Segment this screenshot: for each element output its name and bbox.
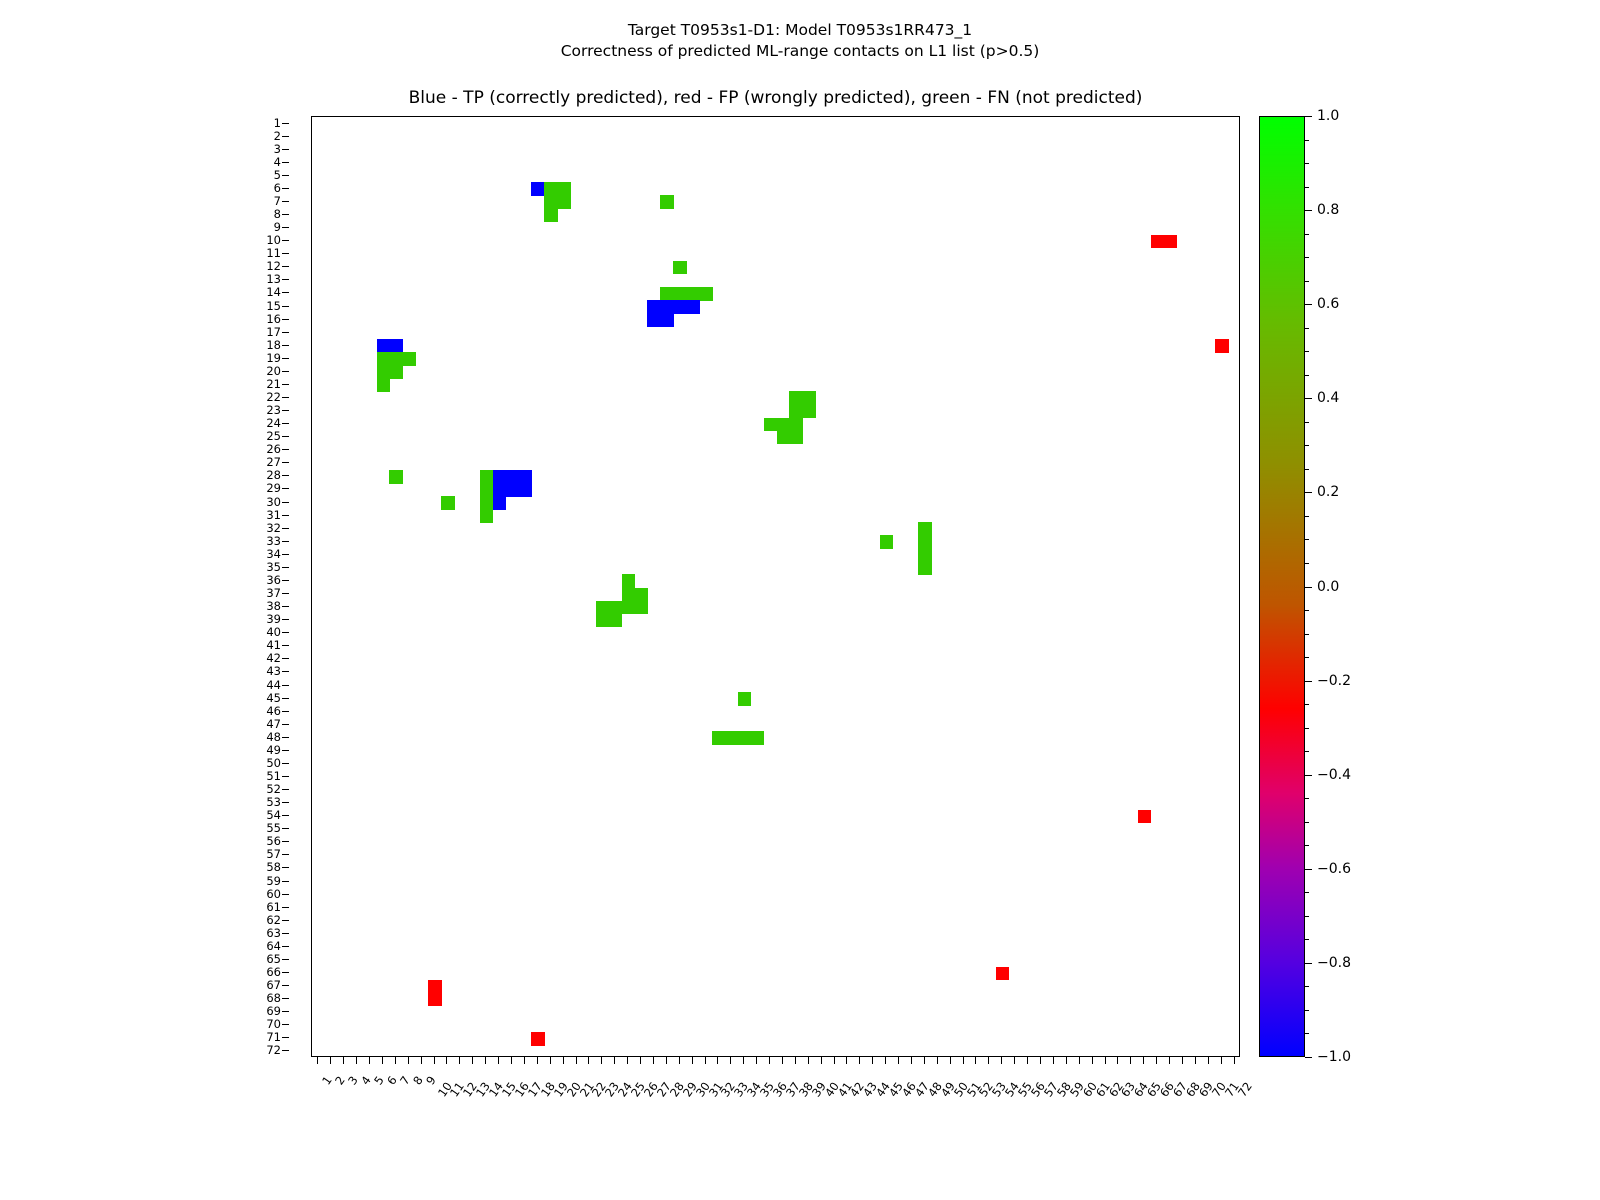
colorbar[interactable]: 1.00.80.60.40.20.0−0.2−0.4−0.6−0.8−1.0 [1259,116,1305,1057]
colorbar-tick-mark [1305,1057,1312,1058]
colorbar-minor-tick [1305,845,1309,846]
figure-suptitle: Target T0953s1-D1: Model T0953s1RR473_1 … [0,20,1600,62]
x-tick-mark [343,1057,344,1064]
x-tick-mark [1092,1057,1093,1064]
contact-cell-fn [377,365,391,379]
y-tick-mark [282,632,289,633]
y-tick-label: 68 [266,992,281,1004]
x-tick-mark [1079,1057,1080,1064]
x-tick-mark [472,1057,473,1064]
x-tick-mark [317,1057,318,1064]
y-tick-label: 8 [274,208,281,220]
x-tick-mark [834,1057,835,1064]
contact-cell-tp [377,339,391,353]
x-tick-mark [717,1057,718,1064]
contact-cell-fn [712,731,726,745]
x-tick-mark [679,1057,680,1064]
contact-cell-fn [377,352,391,366]
contact-cell-tp [389,339,403,353]
y-tick-label: 69 [266,1005,281,1017]
contact-cell-tp [493,496,507,510]
contact-cell-fn [480,509,494,523]
x-tick-mark [898,1057,899,1064]
colorbar-minor-tick [1305,539,1309,540]
y-tick-mark [282,201,289,202]
contact-cell-fn [789,431,803,445]
y-tick-label: 13 [266,273,281,285]
x-tick-mark [1234,1057,1235,1064]
y-tick-mark [282,528,289,529]
contact-cell-fn [389,352,403,366]
y-tick-mark [282,227,289,228]
y-tick-mark [282,266,289,267]
contact-cell-fp [428,993,442,1007]
x-tick-mark [588,1057,589,1064]
y-tick-mark [282,841,289,842]
x-tick-mark [1066,1057,1067,1064]
y-tick-label: 16 [266,313,281,325]
x-tick-mark [808,1057,809,1064]
y-tick-mark [282,384,289,385]
x-tick-mark [859,1057,860,1064]
x-tick-mark [692,1057,693,1064]
colorbar-minor-tick [1305,798,1309,799]
contact-cell-fn [557,182,571,196]
y-tick-label: 45 [266,692,281,704]
x-tick-mark [937,1057,938,1064]
y-tick-label: 4 [274,156,281,168]
y-tick-mark [282,423,289,424]
y-tick-label: 17 [266,326,281,338]
y-tick-mark [282,371,289,372]
y-tick-label: 11 [266,247,281,259]
colorbar-minor-tick [1305,916,1309,917]
x-tick-mark [395,1057,396,1064]
y-tick-label: 1 [274,117,281,129]
contact-cell-fp [1215,339,1229,353]
colorbar-minor-tick [1305,634,1309,635]
y-tick-mark [282,580,289,581]
colorbar-tick-mark [1305,775,1312,776]
y-tick-mark [282,1050,289,1051]
x-tick-mark [550,1057,551,1064]
y-tick-label: 31 [266,509,281,521]
colorbar-minor-tick [1305,751,1309,752]
y-axis: 1234567891011121314151617181920212223242… [0,116,311,1057]
y-tick-mark [282,933,289,934]
y-tick-mark [282,567,289,568]
contact-cell-fn [918,561,932,575]
colorbar-minor-tick [1305,445,1309,446]
contact-cell-fn [789,418,803,432]
x-tick-mark [795,1057,796,1064]
y-tick-label: 71 [266,1031,281,1043]
x-tick-mark [950,1057,951,1064]
y-tick-mark [282,410,289,411]
y-tick-mark [282,737,289,738]
y-tick-label: 40 [266,626,281,638]
y-tick-label: 12 [266,260,281,272]
y-tick-label: 58 [266,861,281,873]
contact-cell-fn [389,470,403,484]
y-tick-mark [282,319,289,320]
colorbar-tick-label: −0.2 [1317,674,1351,688]
contact-cell-fn [918,548,932,562]
y-tick-label: 27 [266,456,281,468]
y-tick-label: 30 [266,496,281,508]
y-tick-mark [282,815,289,816]
y-tick-label: 42 [266,652,281,664]
y-tick-label: 64 [266,940,281,952]
colorbar-tick-label: −0.4 [1317,768,1351,782]
colorbar-minor-tick [1305,163,1309,164]
contact-cell-fn [557,195,571,209]
x-tick-mark [1001,1057,1002,1064]
contact-cell-fn [880,535,894,549]
x-tick-mark [1053,1057,1054,1064]
colorbar-tick-label: 1.0 [1317,109,1339,123]
colorbar-tick-label: 0.8 [1317,203,1339,217]
x-tick-mark [576,1057,577,1064]
x-tick-mark [408,1057,409,1064]
contact-cell-tp [506,470,520,484]
y-tick-mark [282,867,289,868]
y-tick-label: 22 [266,391,281,403]
y-tick-mark [282,946,289,947]
colorbar-tick-label: 0.4 [1317,391,1339,405]
contact-cell-fn [660,195,674,209]
y-tick-label: 9 [274,221,281,233]
x-tick-mark [1014,1057,1015,1064]
y-tick-label: 2 [274,130,281,142]
x-tick-mark [537,1057,538,1064]
contact-cell-tp [506,483,520,497]
y-tick-mark [282,854,289,855]
colorbar-tick-label: 0.0 [1317,580,1339,594]
x-tick-mark [821,1057,822,1064]
y-tick-mark [282,279,289,280]
colorbar-minor-tick [1305,704,1309,705]
y-tick-mark [282,358,289,359]
y-tick-mark [282,881,289,882]
contact-cell-tp [647,300,661,314]
y-tick-mark [282,502,289,503]
y-tick-mark [282,436,289,437]
x-tick-mark [369,1057,370,1064]
y-tick-mark [282,920,289,921]
colorbar-tick-mark [1305,398,1312,399]
colorbar-minor-tick [1305,822,1309,823]
contact-cell-fn [622,601,636,615]
y-tick-label: 70 [266,1018,281,1030]
y-tick-label: 24 [266,417,281,429]
contact-cell-fn [802,405,816,419]
x-tick-mark [524,1057,525,1064]
x-tick-mark [330,1057,331,1064]
y-tick-mark [282,175,289,176]
contact-cell-fn [622,588,636,602]
contact-cell-fp [996,967,1010,981]
y-tick-mark [282,698,289,699]
y-tick-label: 59 [266,875,281,887]
y-tick-mark [282,619,289,620]
contact-cell-fn [764,418,778,432]
contact-cell-tp [686,300,700,314]
x-tick-mark [743,1057,744,1064]
y-tick-label: 33 [266,535,281,547]
y-tick-mark [282,462,289,463]
colorbar-minor-tick [1305,1010,1309,1011]
colorbar-tick-mark [1305,587,1312,588]
contact-cell-fn [544,208,558,222]
y-tick-label: 67 [266,979,281,991]
y-tick-mark [282,763,289,764]
y-tick-label: 28 [266,469,281,481]
x-tick-mark [1143,1057,1144,1064]
x-tick-mark [963,1057,964,1064]
y-tick-mark [282,449,289,450]
y-tick-label: 72 [266,1044,281,1056]
x-tick-mark [1105,1057,1106,1064]
y-tick-label: 37 [266,587,281,599]
contact-cell-tp [518,483,532,497]
x-axis: 1234567891011121314151617181920212223242… [311,1057,1240,1187]
y-tick-mark [282,789,289,790]
colorbar-tick-label: 0.6 [1317,297,1339,311]
y-tick-mark [282,332,289,333]
contact-cell-fp [1151,235,1165,249]
contact-cell-fn [544,195,558,209]
contact-cell-fp [1138,810,1152,824]
y-tick-label: 41 [266,639,281,651]
colorbar-minor-tick [1305,140,1309,141]
x-tick-mark [653,1057,654,1064]
x-tick-mark [563,1057,564,1064]
contact-cell-fn [686,287,700,301]
contact-map-cells [312,117,1239,1056]
y-tick-mark [282,188,289,189]
y-tick-mark [282,292,289,293]
colorbar-minor-tick [1305,939,1309,940]
x-tick-label: 9 [428,1068,442,1081]
contact-cell-fn [596,614,610,628]
y-tick-mark [282,136,289,137]
x-tick-mark [1195,1057,1196,1064]
x-tick-mark [627,1057,628,1064]
colorbar-minor-tick [1305,469,1309,470]
y-tick-label: 10 [266,234,281,246]
y-tick-mark [282,671,289,672]
y-tick-label: 38 [266,600,281,612]
contact-cell-fn [377,378,391,392]
colorbar-tick-label: −0.6 [1317,862,1351,876]
contact-cell-fn [441,496,455,510]
colorbar-minor-tick [1305,281,1309,282]
y-tick-mark [282,972,289,973]
x-tick-mark [1169,1057,1170,1064]
y-tick-label: 19 [266,352,281,364]
colorbar-minor-tick [1305,422,1309,423]
colorbar-tick-label: 0.2 [1317,485,1339,499]
contact-cell-fn [544,182,558,196]
y-tick-mark [282,397,289,398]
colorbar-minor-tick [1305,375,1309,376]
y-tick-mark [282,475,289,476]
contact-cell-tp [660,313,674,327]
x-tick-mark [911,1057,912,1064]
contact-map-plot-area[interactable] [311,116,1240,1057]
contact-cell-fn [802,391,816,405]
y-tick-label: 47 [266,718,281,730]
y-tick-mark [282,645,289,646]
y-tick-mark [282,724,289,725]
x-tick-mark [885,1057,886,1064]
y-tick-label: 3 [274,143,281,155]
colorbar-tick-mark [1305,304,1312,305]
y-tick-mark [282,214,289,215]
y-tick-label: 57 [266,848,281,860]
y-tick-mark [282,554,289,555]
x-tick-mark [1208,1057,1209,1064]
y-tick-label: 63 [266,927,281,939]
x-tick-mark [1182,1057,1183,1064]
contact-cell-fn [789,391,803,405]
colorbar-tick-mark [1305,869,1312,870]
contact-cell-fn [389,365,403,379]
y-tick-mark [282,1037,289,1038]
colorbar-minor-tick [1305,610,1309,611]
colorbar-minor-tick [1305,1033,1309,1034]
y-tick-label: 54 [266,809,281,821]
y-tick-label: 32 [266,522,281,534]
x-tick-mark [446,1057,447,1064]
x-tick-mark [1040,1057,1041,1064]
y-tick-mark [282,658,289,659]
x-tick-mark [705,1057,706,1064]
colorbar-minor-tick [1305,892,1309,893]
y-tick-mark [282,894,289,895]
contact-cell-fn [738,692,752,706]
x-tick-mark [1130,1057,1131,1064]
y-tick-label: 36 [266,574,281,586]
x-tick-mark [1027,1057,1028,1064]
y-tick-mark [282,253,289,254]
x-tick-mark [769,1057,770,1064]
y-tick-label: 26 [266,443,281,455]
y-tick-label: 18 [266,339,281,351]
y-tick-mark [282,306,289,307]
x-tick-mark [924,1057,925,1064]
contact-cell-tp [518,470,532,484]
contact-cell-fn [609,614,623,628]
contact-cell-fn [635,588,649,602]
x-tick-mark [459,1057,460,1064]
y-tick-label: 66 [266,966,281,978]
y-tick-mark [282,162,289,163]
y-tick-label: 35 [266,561,281,573]
y-tick-mark [282,593,289,594]
contact-cell-fn [402,352,416,366]
y-tick-mark [282,802,289,803]
contact-cell-fn [738,731,752,745]
contact-cell-fp [1164,235,1178,249]
y-tick-mark [282,488,289,489]
y-tick-mark [282,711,289,712]
y-tick-label: 44 [266,679,281,691]
contact-cell-fn [609,601,623,615]
contact-cell-fn [725,731,739,745]
contact-cell-fn [660,287,674,301]
suptitle-line-1: Target T0953s1-D1: Model T0953s1RR473_1 [0,20,1600,41]
y-tick-mark [282,998,289,999]
y-tick-label: 51 [266,770,281,782]
colorbar-minor-tick [1305,657,1309,658]
contact-cell-fn [777,418,791,432]
y-tick-mark [282,515,289,516]
x-tick-mark [421,1057,422,1064]
x-tick-mark [601,1057,602,1064]
y-tick-mark [282,149,289,150]
x-tick-mark [730,1057,731,1064]
colorbar-tick-label: −1.0 [1317,1050,1351,1064]
contact-cell-fp [428,980,442,994]
colorbar-minor-tick [1305,187,1309,188]
contact-cell-fn [777,431,791,445]
y-tick-mark [282,776,289,777]
contact-cell-fn [596,601,610,615]
colorbar-minor-tick [1305,986,1309,987]
y-tick-label: 48 [266,731,281,743]
contact-cell-fn [789,405,803,419]
colorbar-minor-tick [1305,351,1309,352]
colorbar-tick-label: −0.8 [1317,956,1351,970]
y-tick-mark [282,1024,289,1025]
contact-cell-fn [635,601,649,615]
x-tick-mark [988,1057,989,1064]
x-tick-mark [1221,1057,1222,1064]
contact-cell-fn [480,470,494,484]
contact-cell-tp [493,483,507,497]
y-tick-label: 34 [266,548,281,560]
y-tick-label: 56 [266,835,281,847]
contact-cell-fn [699,287,713,301]
colorbar-tick-mark [1305,492,1312,493]
y-tick-label: 62 [266,914,281,926]
contact-cell-tp [531,182,545,196]
contact-cell-fn [918,535,932,549]
colorbar-gradient [1259,116,1305,1057]
colorbar-tick-mark [1305,116,1312,117]
colorbar-minor-tick [1305,234,1309,235]
y-tick-mark [282,750,289,751]
contact-cell-tp [660,300,674,314]
colorbar-tick-mark [1305,210,1312,211]
y-tick-label: 61 [266,901,281,913]
y-tick-label: 25 [266,430,281,442]
y-tick-mark [282,959,289,960]
x-tick-mark [485,1057,486,1064]
y-tick-label: 15 [266,300,281,312]
x-tick-mark [614,1057,615,1064]
contact-cell-fp [531,1032,545,1046]
y-tick-mark [282,985,289,986]
y-tick-label: 46 [266,705,281,717]
y-tick-mark [282,1011,289,1012]
colorbar-minor-tick [1305,328,1309,329]
contact-cell-tp [673,300,687,314]
y-tick-label: 7 [274,195,281,207]
contact-cell-fn [673,287,687,301]
